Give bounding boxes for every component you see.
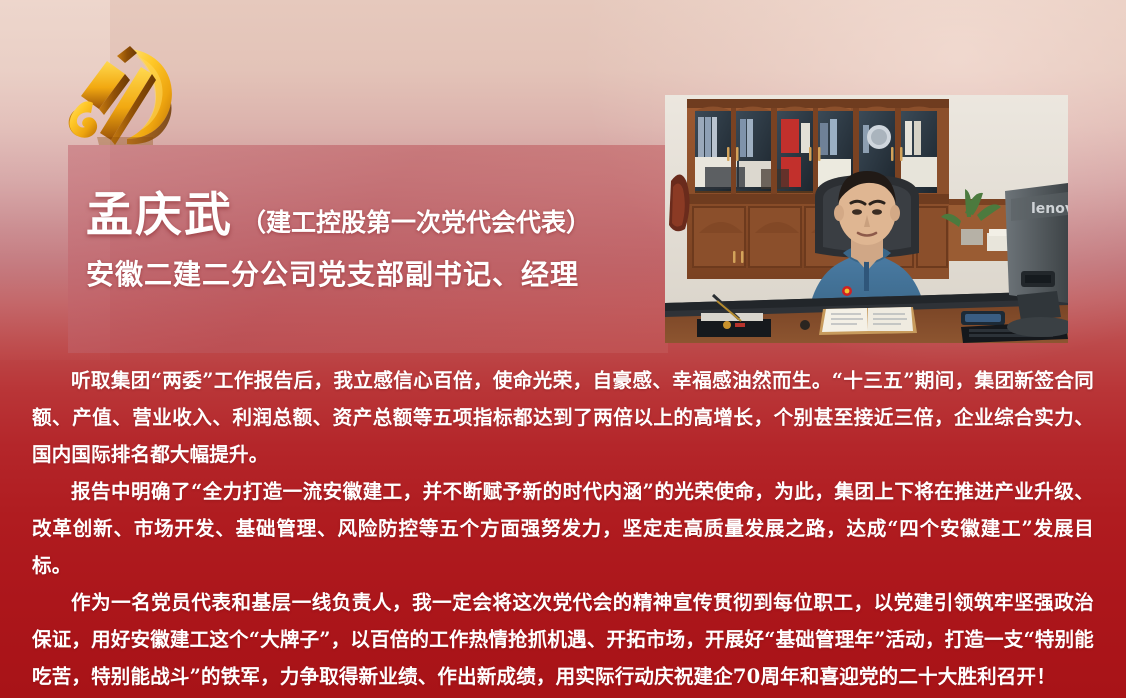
profile-name-row: 孟庆武 （建工控股第一次党代会代表） — [86, 192, 652, 239]
article-paragraph-3: 作为一名党员代表和基层一线负责人，我一定会将这次党代会的精神宣传贯彻到每位职工，… — [32, 584, 1094, 695]
party-emblem-icon — [57, 33, 185, 155]
article-paragraph-2: 报告中明确了“全力打造一流安徽建工，并不断赋予新的时代内涵”的光荣使命，为此，集… — [32, 473, 1094, 584]
person-delegate-role: （建工控股第一次党代会代表） — [241, 210, 591, 235]
article-body: 听取集团“两委”工作报告后，我立感信心百倍，使命光荣，自豪感、幸福感油然而生。“… — [32, 362, 1094, 695]
person-job-title: 安徽二建二分公司党支部副书记、经理 — [86, 253, 652, 293]
article-paragraph-1: 听取集团“两委”工作报告后，我立感信心百倍，使命光荣，自豪感、幸福感油然而生。“… — [32, 362, 1094, 473]
profile-banner: 孟庆武 （建工控股第一次党代会代表） 安徽二建二分公司党支部副书记、经理 — [68, 145, 668, 353]
svg-text:lenovo: lenovo — [1031, 201, 1068, 217]
poster-root: 孟庆武 （建工控股第一次党代会代表） 安徽二建二分公司党支部副书记、经理 — [0, 0, 1126, 698]
profile-banner-inner: 孟庆武 （建工控股第一次党代会代表） 安徽二建二分公司党支部副书记、经理 — [86, 192, 652, 293]
portrait-photo: lenovo — [665, 95, 1068, 343]
person-name: 孟庆武 — [86, 192, 233, 239]
